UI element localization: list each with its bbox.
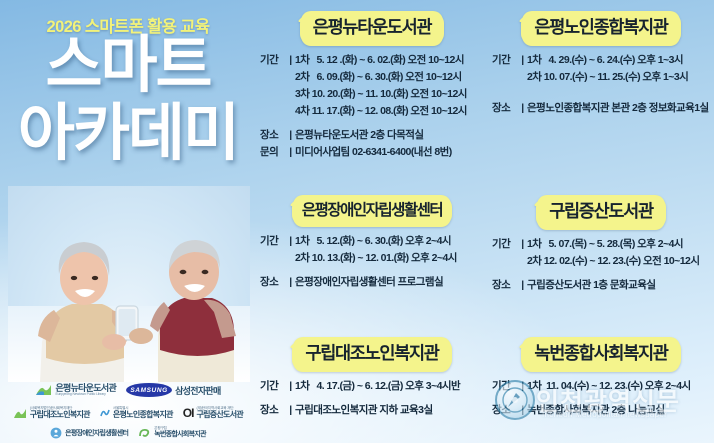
contact-value: 미디어사업팀 02-6341-6400(내선 8번) (295, 144, 484, 161)
logo-name: 은평노인종합복지관 (113, 411, 173, 419)
poster-left-column: 2026 스마트폰 활용 교육 스마트 아카데미 (0, 0, 256, 443)
logo-text-block: 서울특별시 은평노인종합복지관 (113, 407, 173, 419)
divider-bar: | (518, 277, 527, 294)
divider-bar: | (286, 402, 295, 419)
session-text: 11. 17.(화) ~ 12. 08.(화) 오전 10~12시 (312, 105, 467, 117)
panel-title-badge: 녹번종합사회복지관 (521, 340, 680, 369)
logo-nokbeon-social-welfare-center: 은평구립 녹번종합사회복지관 (138, 427, 206, 439)
period-value: 1차 4. 29.(수) ~ 6. 24.(수) 오후 1~3시 (527, 52, 710, 69)
poster-title-line2: 아카데미 (0, 104, 256, 165)
session-text: 10. 13.(화) ~ 12. 01.(화) 오후 2~4시 (312, 252, 457, 264)
swirl-logo-icon (138, 427, 151, 439)
place-label: 장소 (260, 402, 286, 419)
period-row: 기간 | 1차 4. 29.(수) ~ 6. 24.(수) 오후 1~3시 (492, 52, 710, 69)
oi-logo-mark: OI (183, 406, 194, 420)
divider-bar: | (518, 402, 527, 419)
session-no: 3차 (295, 88, 309, 100)
place-row: 장소 | 구립증산도서관 1층 문화교육실 (492, 277, 710, 294)
panel-body: 기간 | 1차 5. 12 .(화) ~ 6. 02.(화) 오전 10~12시… (256, 52, 488, 161)
place-label: 장소 (492, 277, 518, 294)
logo-row-2: (사회복지법인)한사회복지재단 구립대조노인복지관 서울특별시 은평노인종합복지… (0, 402, 256, 424)
place-label: 장소 (492, 100, 518, 117)
period-value: 1차 5. 12.(화) ~ 6. 30.(화) 오후 2~4시 (295, 233, 484, 250)
program-panels: 은평뉴타운도서관 기간 | 1차 5. 12 .(화) ~ 6. 02.(화) … (256, 0, 714, 443)
panel-body: 기간 | 1차 5. 12.(화) ~ 6. 30.(화) 오후 2~4시 기간… (256, 233, 488, 291)
panel-body: 기간 | 1차 4. 29.(수) ~ 6. 24.(수) 오후 1~3시 기간… (488, 52, 714, 117)
period-row: 기간 | 2차 10. 13.(화) ~ 12. 01.(화) 오후 2~4시 (260, 250, 484, 267)
divider-bar: | (286, 127, 295, 144)
period-value: 2차 10. 13.(화) ~ 12. 01.(화) 오후 2~4시 (295, 250, 484, 267)
logo-text-block: (재)한국지역사회교육 재단 구립증산도서관 (196, 407, 243, 419)
period-row: 기간 | 1차 5. 12.(화) ~ 6. 30.(화) 오후 2~4시 (260, 233, 484, 250)
logo-name: 삼성전자판매 (175, 384, 220, 397)
panel-eunpyeong-newtown-library: 은평뉴타운도서관 기간 | 1차 5. 12 .(화) ~ 6. 02.(화) … (256, 14, 488, 161)
logo-name: 구립대조노인복지관 (30, 411, 90, 419)
session-no: 1차 (527, 380, 541, 392)
period-row: 기간 | 1차 5. 12 .(화) ~ 6. 02.(화) 오전 10~12시 (260, 52, 484, 69)
panel-body: 기간 | 1차 4. 17.(금) ~ 6. 12.(금) 오후 3~4시반 장… (256, 378, 488, 419)
logo-name: 녹번종합사회복지관 (154, 431, 206, 438)
place-label: 장소 (260, 127, 286, 144)
logo-row-3: 은평장애인자립생활센터 은평구립 녹번종합사회복지관 (0, 424, 256, 441)
logo-gurip-jeungsan-library: OI (재)한국지역사회교육 재단 구립증산도서관 (183, 406, 243, 420)
place-row: 장소 | 은평장애인자립생활센터 프로그램실 (260, 274, 484, 291)
period-row: 기간 | 4차 11. 17.(화) ~ 12. 08.(화) 오전 10~12… (260, 103, 484, 120)
panel-body: 기간 | 1차 11. 04.(수) ~ 12. 23.(수) 오후 2~4시 … (488, 378, 714, 419)
period-row: 기간 | 3차 10. 20.(화) ~ 11. 10.(화) 오전 10~12… (260, 86, 484, 103)
panel-title-badge: 은평노인종합복지관 (521, 14, 680, 43)
place-value: 구립대조노인복지관 지하 교육3실 (295, 402, 484, 419)
period-label: 기간 (260, 233, 286, 250)
session-no: 1차 (295, 235, 309, 247)
spacer (260, 395, 484, 402)
session-no: 2차 (527, 255, 541, 267)
logo-eunpyeong-disability-center: 은평장애인자립생활센터 (50, 427, 128, 439)
panel-eunpyeong-senior-welfare-center: 은평노인종합복지관 기간 | 1차 4. 29.(수) ~ 6. 24.(수) … (488, 14, 714, 117)
logo-text-block: 은평뉴타운도서관 Eunpyeong Newtown Public Librar… (55, 384, 116, 396)
period-label: 기간 (492, 236, 518, 253)
divider-bar: | (518, 52, 527, 69)
session-no: 1차 (295, 54, 309, 66)
session-no: 1차 (295, 380, 309, 392)
place-value: 구립증산도서관 1층 문화교육실 (527, 277, 710, 294)
period-row: 기간 | 1차 5. 07.(목) ~ 5. 28.(목) 오후 2~4시 (492, 236, 710, 253)
period-label: 기간 (260, 52, 286, 69)
panel-title-badge: 은평장애인자립생활센터 (292, 198, 452, 224)
panel-gurip-daejo-senior-welfare-center: 구립대조노인복지관 기간 | 1차 4. 17.(금) ~ 6. 12.(금) … (256, 340, 488, 419)
period-value: 1차 11. 04.(수) ~ 12. 23.(수) 오후 2~4시 (527, 378, 710, 395)
logo-text-block: 은평구립 녹번종합사회복지관 (154, 427, 206, 438)
place-value: 은평노인종합복지관 본관 2층 정보화교육1실 (527, 100, 710, 117)
divider-bar: | (286, 378, 295, 395)
spacer (492, 270, 710, 277)
divider-bar: | (518, 378, 527, 395)
period-row: 기간 | 1차 4. 17.(금) ~ 6. 12.(금) 오후 3~4시반 (260, 378, 484, 395)
logo-text-block: (사회복지법인)한사회복지재단 구립대조노인복지관 (30, 407, 90, 419)
place-row: 장소 | 녹번종합사회복지관 2층 나눔교실 (492, 402, 710, 419)
panel-title-wrap: 은평장애인자립생활센터 (256, 198, 488, 224)
divider-bar: | (518, 100, 527, 117)
session-no: 1차 (527, 54, 541, 66)
session-no: 1차 (527, 238, 541, 250)
spacer (260, 120, 484, 127)
place-row: 장소 | 은평노인종합복지관 본관 2층 정보화교육1실 (492, 100, 710, 117)
spacer (492, 86, 710, 93)
place-value: 은평뉴타운도서관 2층 다목적실 (295, 127, 484, 144)
session-text: 6. 09.(화) ~ 6. 30.(화) 오전 10~12시 (317, 71, 462, 83)
logo-row-1: 은평뉴타운도서관 Eunpyeong Newtown Public Librar… (0, 378, 256, 402)
session-no: 2차 (527, 71, 541, 83)
period-row: 기간 | 2차 6. 09.(화) ~ 6. 30.(화) 오전 10~12시 (260, 69, 484, 86)
session-text: 10. 07.(수) ~ 11. 25.(수) 오후 1~3시 (544, 71, 689, 83)
panel-title-badge: 구립대조노인복지관 (292, 340, 451, 369)
panel-body: 기간 | 1차 5. 07.(목) ~ 5. 28.(목) 오후 2~4시 기간… (488, 236, 714, 294)
panel-eunpyeong-disability-center: 은평장애인자립생활센터 기간 | 1차 5. 12.(화) ~ 6. 30.(화… (256, 198, 488, 291)
session-text: 5. 07.(목) ~ 5. 28.(목) 오후 2~4시 (549, 238, 684, 250)
spacer (492, 93, 710, 100)
session-no: 2차 (295, 252, 309, 264)
samsung-logo-mark: SAMSUNG (126, 383, 172, 397)
session-text: 12. 02.(수) ~ 12. 23.(수) 오전 10~12시 (544, 255, 700, 267)
divider-bar: | (286, 52, 295, 69)
session-text: 11. 04.(수) ~ 12. 23.(수) 오후 2~4시 (546, 380, 691, 392)
session-text: 5. 12 .(화) ~ 6. 02.(화) 오전 10~12시 (317, 54, 464, 66)
period-value: 4차 11. 17.(화) ~ 12. 08.(화) 오전 10~12시 (295, 103, 484, 120)
period-label: 기간 (260, 378, 286, 395)
period-value: 2차 6. 09.(화) ~ 6. 30.(화) 오전 10~12시 (295, 69, 484, 86)
period-label: 기간 (492, 378, 518, 395)
session-no: 4차 (295, 105, 309, 117)
logo-name-english: Eunpyeong Newtown Public Library (55, 393, 116, 396)
poster-title-line1: 스마트 (0, 36, 256, 97)
logo-samsung-electronics-sales: SAMSUNG 삼성전자판매 (126, 383, 220, 397)
session-text: 5. 12.(화) ~ 6. 30.(화) 오후 2~4시 (317, 235, 452, 247)
period-value: 2차 12. 02.(수) ~ 12. 23.(수) 오전 10~12시 (527, 253, 710, 270)
divider-bar: | (286, 274, 295, 291)
logo-eunpyeong-newtown-library: 은평뉴타운도서관 Eunpyeong Newtown Public Librar… (35, 382, 116, 398)
panel-title-wrap: 은평뉴타운도서관 (256, 14, 488, 43)
period-value: 2차 10. 07.(수) ~ 11. 25.(수) 오후 1~3시 (527, 69, 710, 86)
logo-eunpyeong-senior-welfare-center: 서울특별시 은평노인종합복지관 (100, 407, 173, 419)
period-value: 3차 10. 20.(화) ~ 11. 10.(화) 오전 10~12시 (295, 86, 484, 103)
panel-nokbeon-social-welfare-center: 녹번종합사회복지관 기간 | 1차 11. 04.(수) ~ 12. 23.(수… (488, 340, 714, 419)
panel-title-wrap: 녹번종합사회복지관 (488, 340, 714, 369)
library-logo-icon (35, 382, 52, 398)
period-row: 기간 | 2차 12. 02.(수) ~ 12. 23.(수) 오전 10~12… (492, 253, 710, 270)
panel-title-wrap: 은평노인종합복지관 (488, 14, 714, 43)
place-label: 장소 (260, 274, 286, 291)
place-row: 장소 | 구립대조노인복지관 지하 교육3실 (260, 402, 484, 419)
poster-root: 2026 스마트폰 활용 교육 스마트 아카데미 (0, 0, 714, 443)
contact-label: 문의 (260, 144, 286, 161)
couple-illustration (8, 186, 250, 382)
divider-bar: | (286, 233, 295, 250)
place-label: 장소 (492, 402, 518, 419)
session-text: 4. 29.(수) ~ 6. 24.(수) 오후 1~3시 (549, 54, 684, 66)
period-row: 기간 | 1차 11. 04.(수) ~ 12. 23.(수) 오후 2~4시 (492, 378, 710, 395)
panel-title-badge: 은평뉴타운도서관 (300, 14, 444, 43)
circle-person-logo-icon (50, 427, 62, 439)
spacer (492, 395, 710, 402)
contact-row: 문의 | 미디어사업팀 02-6341-6400(내선 8번) (260, 144, 484, 161)
panel-title-wrap: 구립대조노인복지관 (256, 340, 488, 369)
sponsor-logos: 은평뉴타운도서관 Eunpyeong Newtown Public Librar… (0, 378, 256, 443)
period-value: 1차 5. 07.(목) ~ 5. 28.(목) 오후 2~4시 (527, 236, 710, 253)
period-label: 기간 (492, 52, 518, 69)
session-text: 4. 17.(금) ~ 6. 12.(금) 오후 3~4시반 (317, 380, 461, 392)
session-no: 2차 (295, 71, 309, 83)
period-value: 1차 4. 17.(금) ~ 6. 12.(금) 오후 3~4시반 (295, 378, 484, 395)
divider-bar: | (286, 144, 295, 161)
period-row: 기간 | 2차 10. 07.(수) ~ 11. 25.(수) 오후 1~3시 (492, 69, 710, 86)
panel-title-badge: 구립증산도서관 (536, 198, 666, 227)
session-text: 10. 20.(화) ~ 11. 10.(화) 오전 10~12시 (312, 88, 467, 100)
place-value: 녹번종합사회복지관 2층 나눔교실 (527, 402, 710, 419)
place-value: 은평장애인자립생활센터 프로그램실 (295, 274, 484, 291)
elderly-couple-photo (8, 186, 250, 382)
divider-bar: | (518, 236, 527, 253)
seoul-city-logo-icon (100, 408, 110, 419)
leaf-logo-icon (13, 407, 27, 420)
period-value: 1차 5. 12 .(화) ~ 6. 02.(화) 오전 10~12시 (295, 52, 484, 69)
logo-name: 은평장애인자립생활센터 (65, 428, 128, 438)
logo-gurip-daejo-senior-welfare-center: (사회복지법인)한사회복지재단 구립대조노인복지관 (13, 407, 90, 420)
panel-gurip-jeungsan-library: 구립증산도서관 기간 | 1차 5. 07.(목) ~ 5. 28.(목) 오후… (488, 198, 714, 294)
spacer (260, 267, 484, 274)
logo-name: 구립증산도서관 (196, 411, 243, 419)
place-row: 장소 | 은평뉴타운도서관 2층 다목적실 (260, 127, 484, 144)
panel-title-wrap: 구립증산도서관 (488, 198, 714, 227)
